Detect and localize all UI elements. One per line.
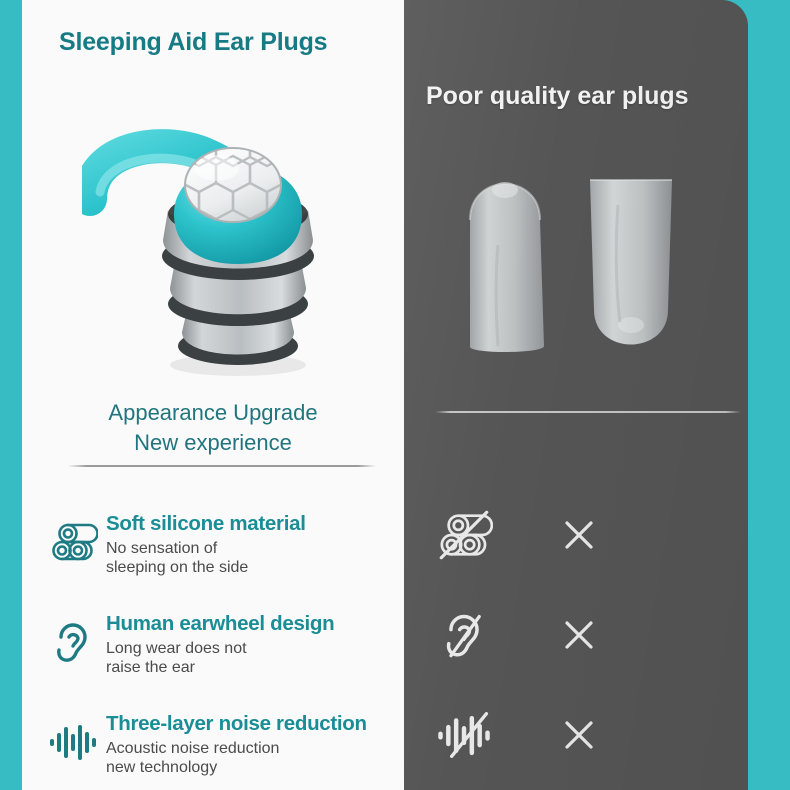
feature-heading: Human earwheel design: [106, 611, 334, 637]
feature-subtext: No sensation of sleeping on the side: [106, 539, 306, 577]
feature-item-earwheel-design: Human earwheel design Long wear does not…: [22, 610, 404, 710]
infographic-page: Sleeping Aid Ear Plugs: [0, 0, 790, 790]
feature-text: Human earwheel design Long wear does not…: [100, 610, 334, 677]
feature-list: Soft silicone material No sensation of s…: [22, 510, 404, 790]
negative-feature-list: [404, 485, 748, 785]
right-panel-title: Poor quality ear plugs: [426, 82, 689, 111]
tagline: Appearance Upgrade New experience: [22, 398, 404, 458]
silicone-tubes-crossed-icon: [404, 510, 524, 560]
right-comparison-panel: Poor quality ear plugs: [404, 0, 748, 790]
tagline-line-2: New experience: [22, 428, 404, 458]
negative-row-ear: [404, 585, 748, 685]
sound-wave-icon: [46, 714, 100, 770]
feature-item-soft-silicone: Soft silicone material No sensation of s…: [22, 510, 404, 610]
left-product-panel: Sleeping Aid Ear Plugs: [22, 0, 404, 790]
feature-subtext-line-2: raise the ear: [106, 658, 334, 677]
feature-subtext: Acoustic noise reduction new technology: [106, 739, 367, 777]
x-mark-icon: [524, 518, 634, 552]
x-mark-icon: [524, 618, 634, 652]
product-image-gray-foam-earplugs: [440, 150, 700, 380]
feature-item-noise-reduction: Three-layer noise reduction Acoustic noi…: [22, 710, 404, 790]
silicone-tubes-icon: [46, 514, 100, 570]
left-divider: [68, 465, 376, 467]
feature-subtext-line-1: No sensation of: [106, 539, 306, 558]
feature-subtext-line-2: new technology: [106, 758, 367, 777]
feature-subtext-line-1: Acoustic noise reduction: [106, 739, 367, 758]
tagline-line-1: Appearance Upgrade: [22, 398, 404, 428]
feature-heading: Three-layer noise reduction: [106, 711, 367, 737]
negative-row-silicone: [404, 485, 748, 585]
right-divider: [435, 411, 741, 413]
feature-subtext: Long wear does not raise the ear: [106, 639, 334, 677]
negative-row-noise: [404, 685, 748, 785]
feature-text: Soft silicone material No sensation of s…: [100, 510, 306, 577]
feature-text: Three-layer noise reduction Acoustic noi…: [100, 710, 367, 777]
page-title: Sleeping Aid Ear Plugs: [59, 28, 327, 57]
feature-heading: Soft silicone material: [106, 511, 306, 537]
ear-icon: [46, 614, 100, 670]
ear-crossed-icon: [404, 610, 524, 660]
feature-subtext-line-2: sleeping on the side: [106, 558, 306, 577]
product-image-teal-earplug: [82, 118, 382, 380]
x-mark-icon: [524, 718, 634, 752]
feature-subtext-line-1: Long wear does not: [106, 639, 334, 658]
sound-wave-crossed-icon: [404, 712, 524, 758]
